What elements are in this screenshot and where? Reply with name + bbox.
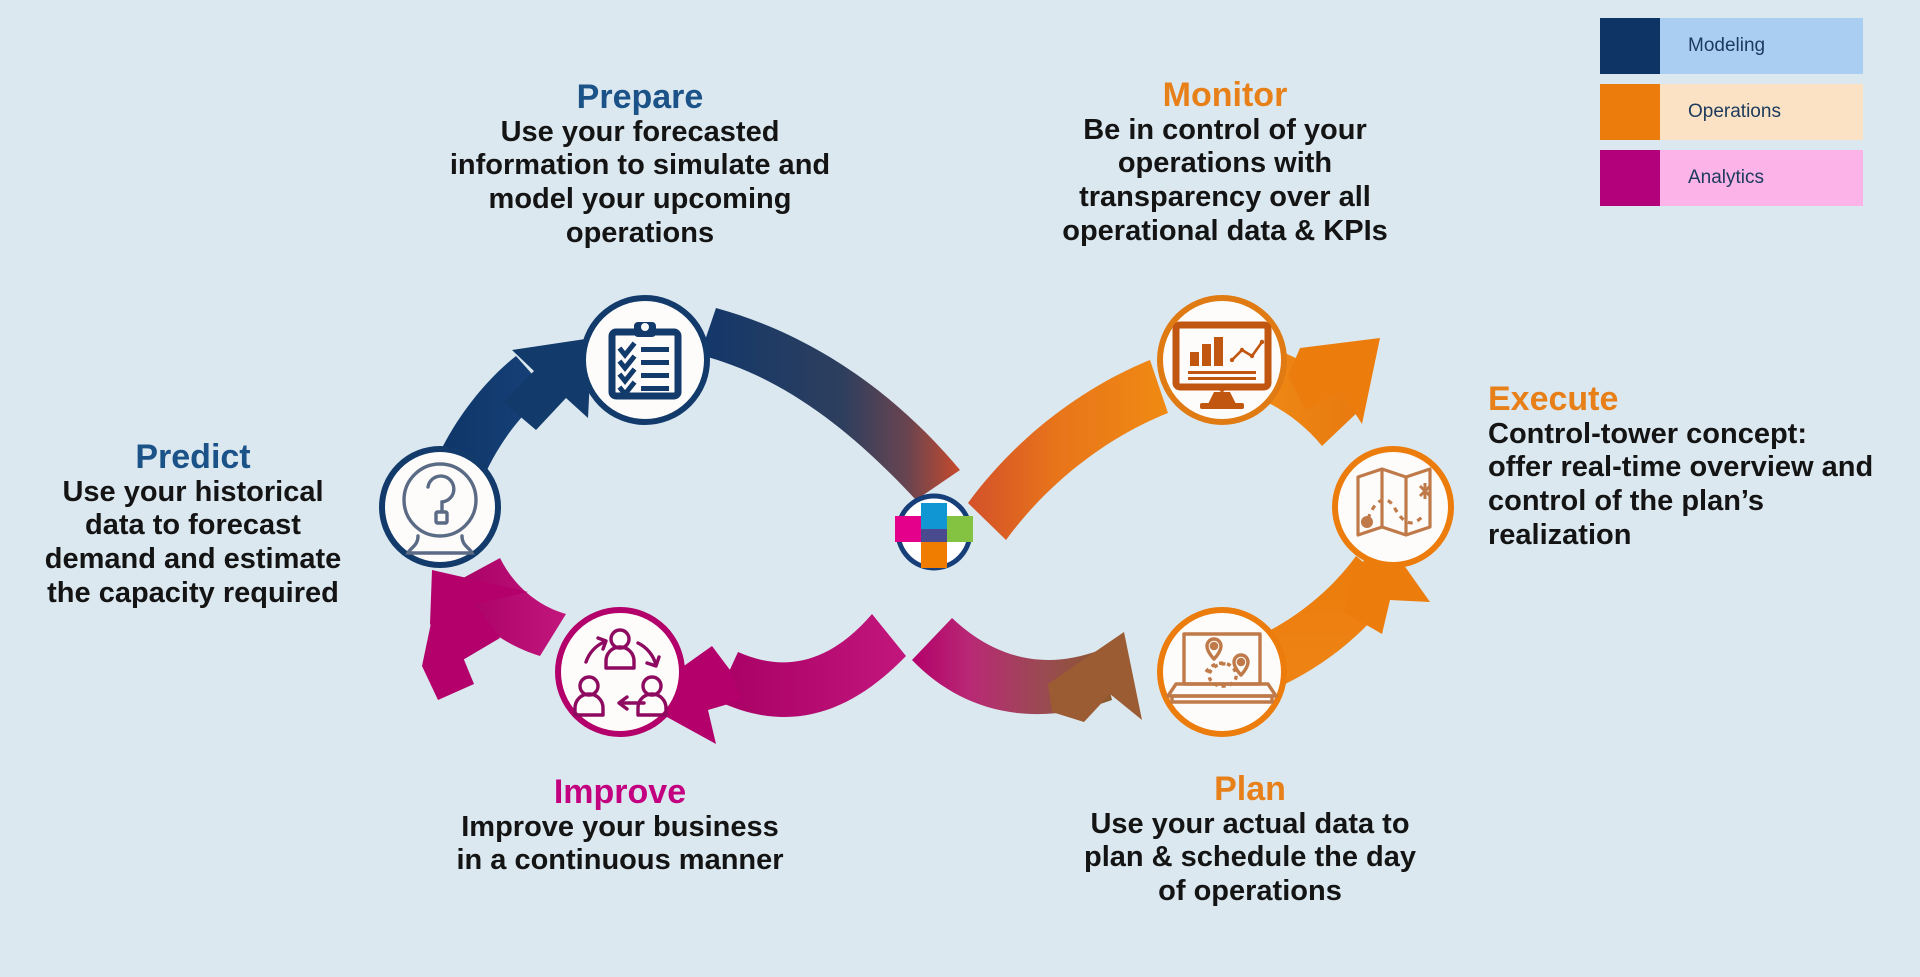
stage-text-prepare: Prepare Use your forecasted information … bbox=[420, 80, 860, 250]
stage-text-plan: Plan Use your actual data to plan & sche… bbox=[1080, 772, 1420, 909]
node-prepare[interactable] bbox=[583, 298, 707, 422]
stage-title-improve: Improve bbox=[450, 775, 790, 811]
stage-desc-predict: Use your historical data to forecast dem… bbox=[40, 476, 346, 611]
arrow-plan-to-improve bbox=[636, 614, 1142, 744]
legend-item-analytics[interactable]: Analytics bbox=[1600, 150, 1863, 206]
stage-title-execute: Execute bbox=[1488, 382, 1878, 418]
node-execute[interactable] bbox=[1335, 449, 1451, 565]
stage-text-monitor: Monitor Be in control of your operations… bbox=[1030, 78, 1420, 248]
legend-item-operations[interactable]: Operations bbox=[1600, 84, 1863, 140]
node-predict[interactable] bbox=[382, 449, 498, 565]
stage-desc-prepare: Use your forecasted information to simul… bbox=[420, 116, 860, 251]
legend-label-operations: Operations bbox=[1660, 84, 1863, 140]
infographic-canvas: Prepare Use your forecasted information … bbox=[0, 0, 1920, 977]
stage-title-predict: Predict bbox=[40, 440, 346, 476]
stage-title-plan: Plan bbox=[1080, 772, 1420, 808]
stage-title-prepare: Prepare bbox=[420, 80, 860, 116]
legend: Modeling Operations Analytics bbox=[1600, 18, 1863, 216]
stage-desc-plan: Use your actual data to plan & schedule … bbox=[1080, 808, 1420, 909]
legend-label-modeling: Modeling bbox=[1660, 18, 1863, 74]
arrow-improve-to-predict bbox=[422, 558, 566, 700]
node-monitor[interactable] bbox=[1160, 298, 1284, 422]
node-improve[interactable] bbox=[558, 610, 682, 734]
node-plan[interactable] bbox=[1160, 610, 1284, 734]
legend-swatch-modeling bbox=[1600, 18, 1660, 74]
stage-desc-monitor: Be in control of your operations with tr… bbox=[1030, 114, 1420, 249]
legend-swatch-analytics bbox=[1600, 150, 1660, 206]
stage-text-predict: Predict Use your historical data to fore… bbox=[40, 440, 346, 610]
stage-text-improve: Improve Improve your business in a conti… bbox=[450, 775, 790, 878]
legend-swatch-operations bbox=[1600, 84, 1660, 140]
stage-title-monitor: Monitor bbox=[1030, 78, 1420, 114]
center-plus-logo bbox=[895, 496, 973, 568]
stage-desc-execute: Control-tower concept: offer real-time o… bbox=[1488, 418, 1878, 553]
legend-item-modeling[interactable]: Modeling bbox=[1600, 18, 1863, 74]
stage-desc-improve: Improve your business in a continuous ma… bbox=[450, 811, 790, 878]
stage-text-execute: Execute Control-tower concept: offer rea… bbox=[1488, 382, 1878, 552]
legend-label-analytics: Analytics bbox=[1660, 150, 1863, 206]
